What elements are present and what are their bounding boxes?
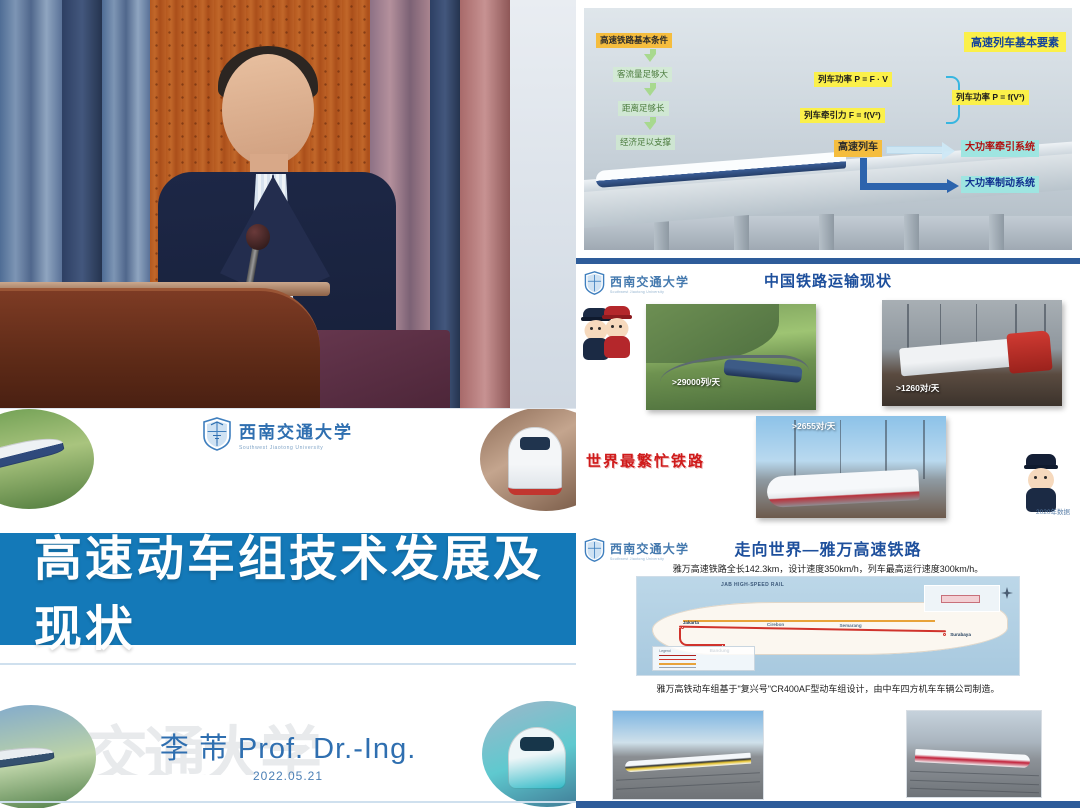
- jab-emu-yellow: [625, 752, 751, 772]
- backdrop-wall: [510, 0, 576, 408]
- map-dot-surabaya: [943, 633, 946, 636]
- bridge-pier: [819, 214, 834, 250]
- train-photo-green-field: [0, 432, 65, 474]
- train-window-2: [520, 737, 554, 751]
- divider-bottom: [0, 801, 576, 803]
- outcome-traction[interactable]: 大功率牵引系统: [961, 140, 1039, 157]
- formula-traction[interactable]: 列车牵引力 F = f(V²): [800, 108, 885, 123]
- microphone-head: [246, 224, 270, 250]
- flow-box-3[interactable]: 经济足以支撑: [616, 135, 675, 150]
- mascot-conductor-icon: [1024, 454, 1058, 510]
- compass-icon: [1001, 587, 1013, 599]
- left-column: 西南交通大学 Southwest Jiaotong University 高速动…: [0, 0, 576, 808]
- slide3-title: 走向世界—雅万高速铁路: [576, 536, 1080, 560]
- slide-hsr-basic-elements[interactable]: 西南交通大学 Southwest Jiaotong University 高速铁…: [576, 0, 1080, 256]
- red-locomotive: [1006, 330, 1053, 374]
- map-dot-jakarta: [681, 626, 684, 629]
- arrow-to-traction-system: [886, 146, 944, 154]
- flow-box-1[interactable]: 客流量足够大: [613, 67, 672, 82]
- map-city-surabaya: Surabaya: [950, 632, 971, 637]
- data-year-note: 2020年数据: [1036, 506, 1070, 516]
- presentation-title-slide: 西南交通大学 Southwest Jiaotong University 高速动…: [0, 408, 576, 808]
- slide3-spec-line: 雅万高速铁路全长142.3km，设计速度350km/h，列车最高运行速度300k…: [576, 562, 1080, 575]
- map-legend: Legend: [652, 646, 755, 671]
- train-box[interactable]: 高速列车: [834, 140, 882, 157]
- screenshot-root: 西南交通大学 Southwest Jiaotong University 高速动…: [0, 0, 1080, 808]
- flow-arrow-2: [644, 122, 656, 130]
- java-hsr-map[interactable]: JAB HIGH-SPEED RAIL Jakarta Bandung Sura…: [636, 576, 1020, 676]
- bridge-pier: [734, 214, 749, 250]
- mascot-pair-icon: [584, 302, 630, 356]
- photo-caption-2: >2655对/天: [792, 420, 835, 432]
- map-city-semarang: Semarang: [839, 623, 861, 628]
- mascot-right: [605, 306, 629, 352]
- slide-china-railway-status[interactable]: 西南交通大学 Southwest Jiaotong University 中国铁…: [576, 258, 1080, 526]
- formula-power-cubed[interactable]: 列车功率 P = f(V³): [952, 90, 1029, 105]
- slide2-top-bar: [576, 258, 1080, 264]
- flow-box-0[interactable]: 高速铁路基本条件: [596, 33, 672, 48]
- title-banner: 高速动车组技术发展及现状: [0, 533, 576, 645]
- page-title: 高速动车组技术发展及现状: [0, 519, 576, 659]
- slide3-manufacture-line: 雅万高铁动车组基于"复兴号"CR400AF型动车组设计，由中车四方机车车辆公司制…: [576, 682, 1080, 695]
- flow-arrow-1: [644, 88, 656, 96]
- swjtu-shield-icon: [202, 417, 232, 451]
- photo-caption-0: >29000列/天: [672, 376, 720, 388]
- highway-line: [683, 620, 935, 621]
- red-callout: 世界最繁忙铁路: [586, 450, 705, 471]
- slide-jakarta-bandung-hsr[interactable]: 西南交通大学 Southwest Jiaotong University 走向世…: [576, 528, 1080, 808]
- slide1-title: 高速列车基本要素: [964, 32, 1066, 52]
- outcome-brake[interactable]: 大功率制动系统: [961, 176, 1039, 193]
- map-inset-locator: [924, 585, 1000, 612]
- bridge-pier: [904, 214, 919, 250]
- bridge-pier: [989, 214, 1004, 250]
- arrow-to-brake-system: [860, 183, 948, 190]
- university-logo-text: 西南交通大学 Southwest Jiaotong University: [239, 418, 353, 451]
- photo-emu-train: [756, 416, 946, 518]
- jab-emu-red: [915, 749, 1031, 768]
- slide3-bottom-bar: [576, 801, 1080, 808]
- backdrop-drape-rose: [460, 0, 510, 408]
- university-logo: 西南交通大学 Southwest Jiaotong University: [202, 417, 353, 451]
- speaker-video-still: [0, 0, 576, 408]
- flow-box-2[interactable]: 距离足够长: [618, 101, 669, 116]
- train-window: [520, 437, 550, 450]
- train-photo-countryside: [0, 743, 55, 772]
- photo-caption-1: >1260对/天: [896, 382, 939, 394]
- divider-top: [0, 663, 576, 665]
- decor-photo-top-left: [0, 409, 94, 509]
- photo-freight-train: [646, 304, 816, 410]
- map-city-jakarta: Jakarta: [683, 620, 699, 625]
- map-legend-title: Legend: [659, 649, 670, 653]
- formula-power[interactable]: 列车功率 P = F · V: [814, 72, 892, 87]
- map-header-label: JAB HIGH-SPEED RAIL: [721, 582, 784, 588]
- slide2-title: 中国铁路运输现状: [576, 270, 1080, 291]
- podium: [0, 288, 320, 408]
- flow-arrow-0: [644, 54, 656, 62]
- decor-photo-top-right: [480, 408, 576, 511]
- speaker-head: [222, 54, 314, 166]
- decor-photo-bottom-left: [0, 705, 96, 808]
- photo-jab-train-yellow: [612, 710, 764, 800]
- photo-jab-train-red: [906, 710, 1042, 798]
- emu-train: [767, 469, 920, 508]
- map-city-cirebon: Cirebon: [767, 622, 784, 627]
- hsr-route-branch: [679, 628, 725, 646]
